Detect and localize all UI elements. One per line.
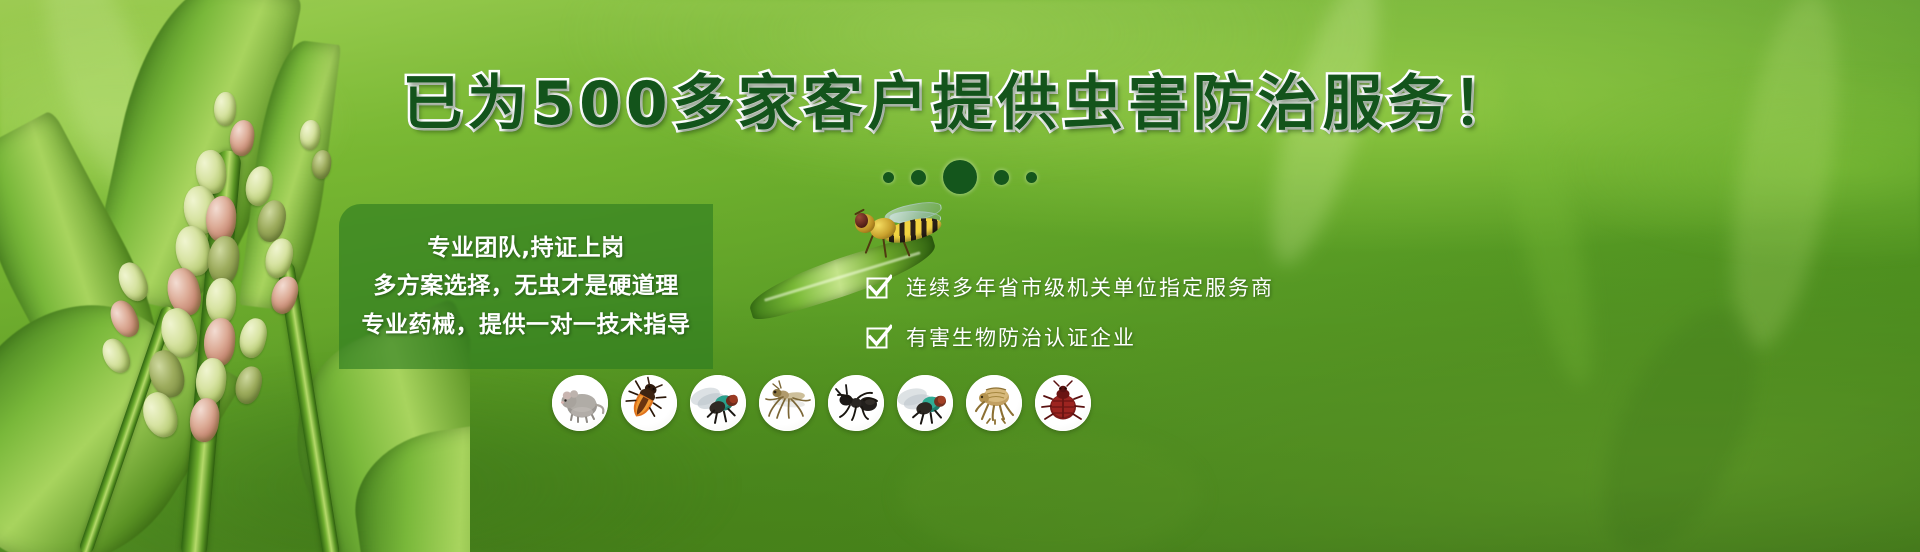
hoverfly-decor xyxy=(848,202,954,254)
highlights-text-list: 专业团队,持证上岗多方案选择，无虫才是硬道理专业药械，提供一对一技术指导 xyxy=(339,206,713,368)
certification-bullet-list: 连续多年省市级机关单位指定服务商 有害生物防治认证企业 xyxy=(866,272,1274,352)
mouse-icon[interactable] xyxy=(552,375,608,431)
greenfly-icon[interactable] xyxy=(897,375,953,431)
highlight-line: 多方案选择，无虫才是硬道理 xyxy=(373,274,679,299)
dot-small xyxy=(1026,172,1037,183)
flower-bud xyxy=(236,315,271,360)
flea-icon[interactable] xyxy=(966,375,1022,431)
bedbug-icon[interactable] xyxy=(1035,375,1091,431)
flower-bud xyxy=(231,363,266,406)
highlight-line: 专业药械，提供一对一技术指导 xyxy=(362,313,691,338)
pest-control-banner: 已为500多家客户提供虫害防治服务！ 专业团队,持证上岗多方案选择，无虫才是硬道… xyxy=(0,0,1920,552)
certification-bullet-label: 连续多年省市级机关单位指定服务商 xyxy=(906,272,1274,302)
page-title-text: 已为500多家客户提供虫害防治服务！ xyxy=(402,69,1517,139)
cranefly-icon[interactable] xyxy=(759,375,815,431)
decorative-dot-row xyxy=(0,160,1920,194)
checkbox-check-icon xyxy=(866,324,892,350)
certification-bullet-label: 有害生物防治认证企业 xyxy=(906,322,1136,352)
hoverfly-leg xyxy=(865,235,874,254)
hoverfly-eye xyxy=(855,213,868,228)
ant-icon[interactable] xyxy=(828,375,884,431)
cockroach-icon[interactable] xyxy=(621,375,677,431)
dot-medium xyxy=(994,170,1009,185)
certification-bullet: 有害生物防治认证企业 xyxy=(866,322,1274,352)
dot-small xyxy=(883,172,894,183)
checkbox-check-icon xyxy=(866,274,892,300)
dot-large xyxy=(943,160,977,194)
page-title: 已为500多家客户提供虫害防治服务！ xyxy=(0,74,1920,134)
pest-icon-row xyxy=(552,375,1091,431)
dot-medium xyxy=(911,170,926,185)
highlight-line: 专业团队,持证上岗 xyxy=(427,236,624,261)
blowfly-icon[interactable] xyxy=(690,375,746,431)
certification-bullet: 连续多年省市级机关单位指定服务商 xyxy=(866,272,1274,302)
